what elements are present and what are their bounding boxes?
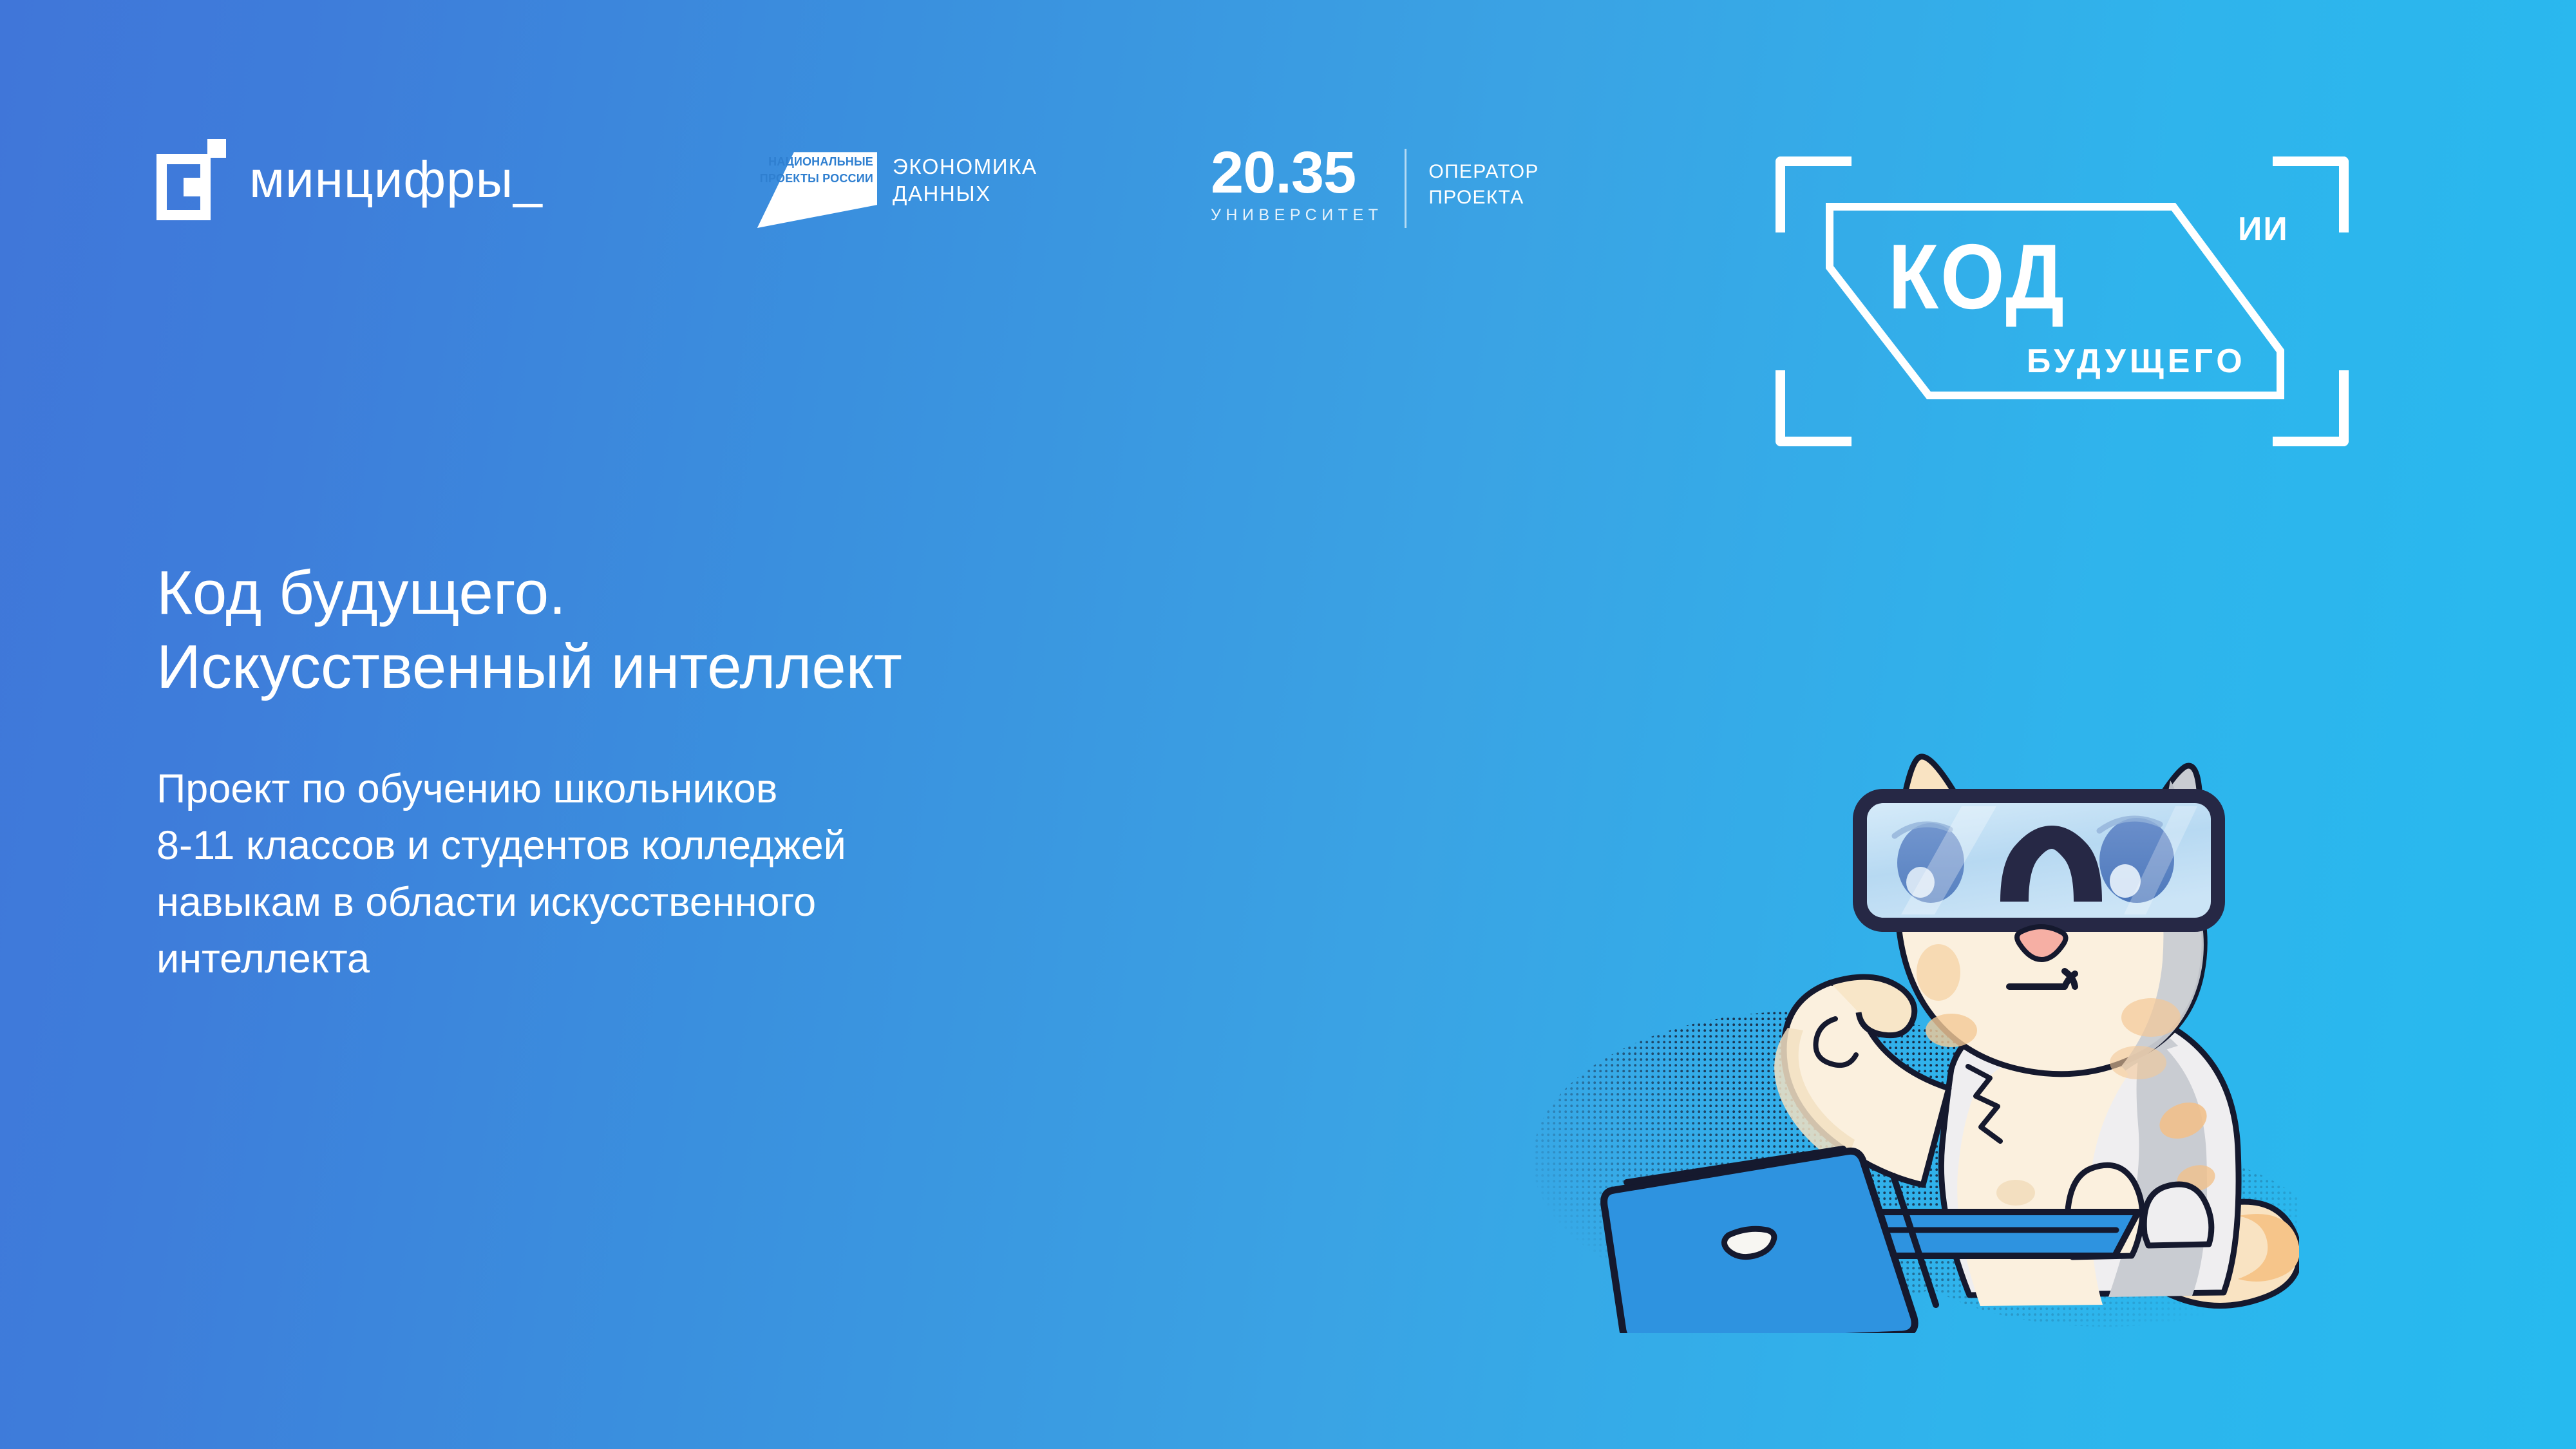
- vr-goggles-icon: [1860, 796, 2218, 925]
- economy-of-data-title: ЭКОНОМИКА ДАННЫХ: [893, 146, 1037, 207]
- ii-badge-word: ИИ: [2238, 213, 2289, 246]
- partner-logo-bar: минцифры_ НАЦИОНАЛЬНЫЕ ПРОЕКТЫ РОССИИ ЭК…: [0, 0, 2576, 309]
- page-title: Код будущего. Искусственный интеллект: [156, 556, 1509, 703]
- project-operator-label: ОПЕРАТОР ПРОЕКТА: [1428, 145, 1539, 211]
- budushchego-word: БУДУЩЕГО: [2027, 345, 2246, 378]
- mincifry-inner-square-icon: [184, 178, 202, 196]
- mincifry-wordmark: минцифры_: [249, 154, 543, 205]
- page-subtitle: Проект по обучению школьников 8-11 класс…: [156, 761, 1509, 988]
- mincifry-mark-icon: [156, 139, 226, 220]
- cat-illustration: [1501, 670, 2299, 1333]
- mincifry-dot-square-icon: [207, 139, 226, 158]
- university-2035-subtitle: УНИВЕРСИТЕТ: [1211, 206, 1383, 225]
- logo-kod-budushchego[interactable]: КОД ИИ БУДУЩЕГО: [1776, 156, 2349, 446]
- national-projects-flag-text: НАЦИОНАЛЬНЫЕ ПРОЕКТЫ РОССИИ: [755, 154, 873, 187]
- kod-word: КОД: [1888, 231, 2066, 323]
- university-2035-mark: 20.35 УНИВЕРСИТЕТ: [1211, 145, 1383, 225]
- logo-university-2035[interactable]: 20.35 УНИВЕРСИТЕТ ОПЕРАТОР ПРОЕКТА: [1211, 145, 1539, 235]
- university-2035-number: 20.35: [1211, 145, 1383, 200]
- promo-banner: минцифры_ НАЦИОНАЛЬНЫЕ ПРОЕКТЫ РОССИИ ЭК…: [0, 0, 2576, 1449]
- vertical-divider: [1405, 149, 1406, 228]
- national-projects-flag-icon: НАЦИОНАЛЬНЫЕ ПРОЕКТЫ РОССИИ: [755, 146, 877, 228]
- logo-mincifry[interactable]: минцифры_: [156, 137, 543, 222]
- logo-national-projects[interactable]: НАЦИОНАЛЬНЫЕ ПРОЕКТЫ РОССИИ ЭКОНОМИКА ДА…: [755, 146, 1037, 229]
- hero-text-block: Код будущего. Искусственный интеллект Пр…: [156, 515, 1509, 1028]
- cat-with-laptop-svg: [1501, 670, 2299, 1333]
